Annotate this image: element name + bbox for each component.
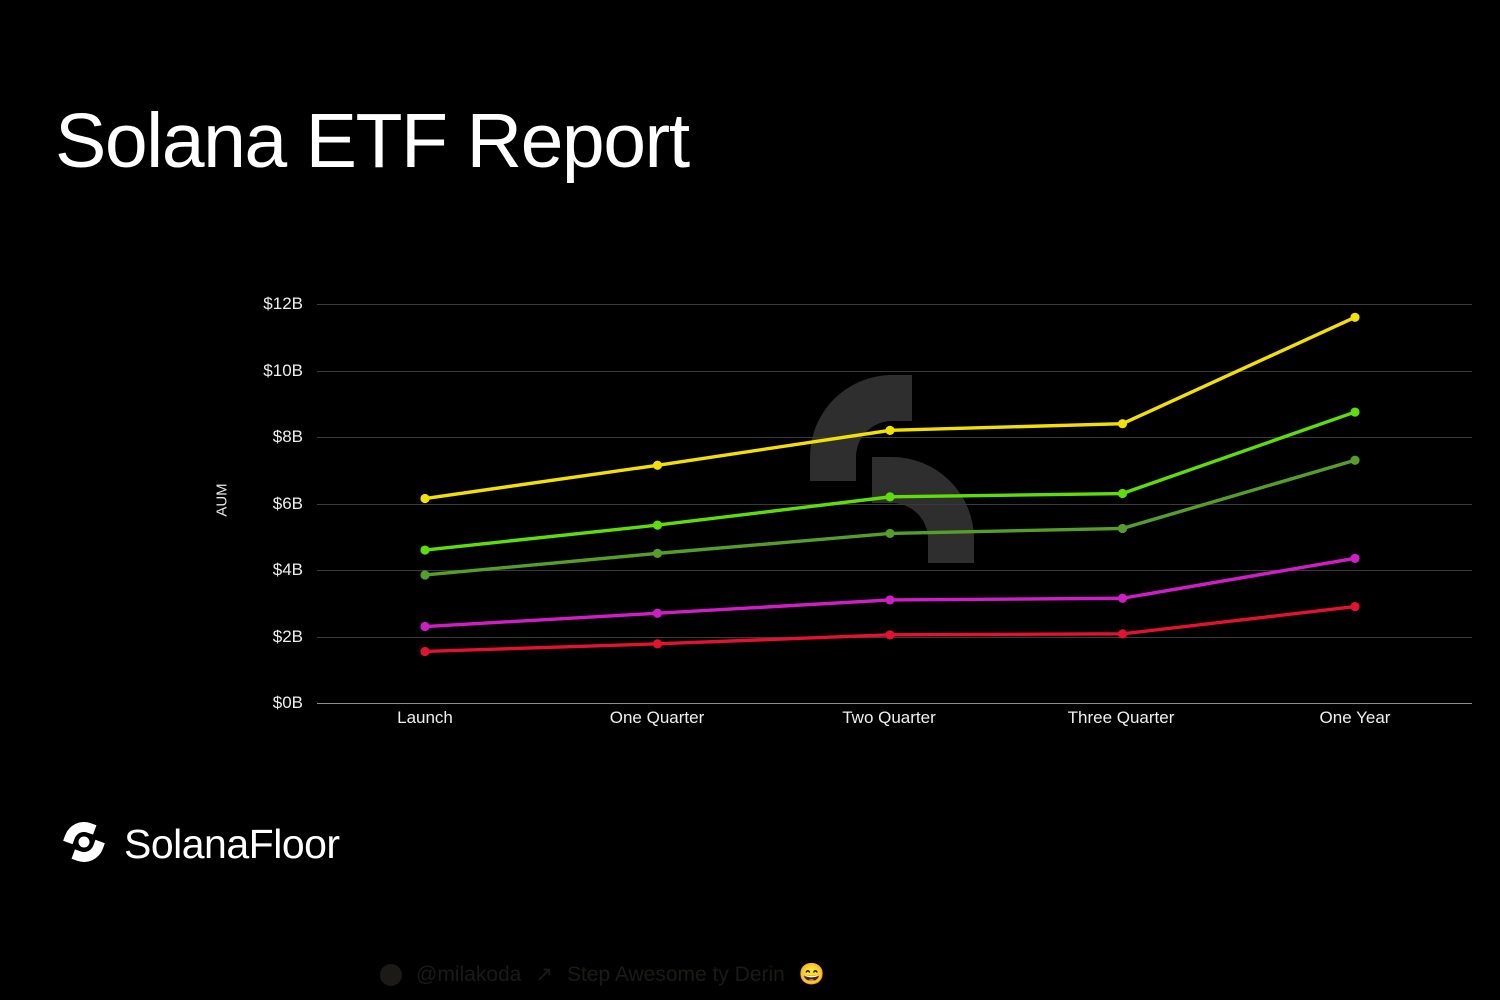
bottom-strip-content: @milakoda ↗ Step Awesome ty Derin 😄	[380, 962, 825, 987]
emoji-icon: 😄	[799, 963, 825, 987]
data-point	[653, 461, 662, 470]
series-line	[425, 317, 1355, 498]
bottom-strip-text: Step Awesome ty Derin	[567, 963, 785, 987]
bottom-strip-handle: @milakoda	[416, 963, 521, 987]
data-point	[1350, 554, 1359, 563]
solanafloor-pinwheel-icon	[60, 818, 108, 871]
data-point	[420, 494, 429, 503]
chart-series	[420, 456, 1359, 580]
data-point	[1118, 419, 1127, 428]
arrow-icon: ↗	[535, 962, 553, 987]
data-point	[885, 426, 894, 435]
series-line	[425, 607, 1355, 652]
chart-series	[420, 602, 1359, 656]
data-point	[885, 595, 894, 604]
data-point	[1350, 456, 1359, 465]
data-point	[1118, 524, 1127, 533]
data-point	[653, 521, 662, 530]
chart-series	[420, 554, 1359, 631]
data-point	[653, 549, 662, 558]
report-slide: Solana ETF Report $12B $10B $8B	[0, 0, 1500, 1000]
data-point	[1350, 602, 1359, 611]
data-point	[1118, 489, 1127, 498]
data-point	[885, 529, 894, 538]
series-line	[425, 558, 1355, 626]
data-point	[420, 647, 429, 656]
data-point	[885, 630, 894, 639]
data-point	[1350, 407, 1359, 416]
data-point	[653, 639, 662, 648]
bottom-cutoff-strip: @milakoda ↗ Step Awesome ty Derin 😄	[0, 958, 1500, 1000]
data-point	[1118, 594, 1127, 603]
data-point	[420, 622, 429, 631]
data-point	[1350, 313, 1359, 322]
data-point	[420, 570, 429, 579]
data-point	[1118, 629, 1127, 638]
chart-series	[420, 313, 1359, 503]
data-point	[420, 545, 429, 554]
brand-logo: SolanaFloor	[60, 818, 340, 871]
data-point	[653, 609, 662, 618]
data-point	[885, 492, 894, 501]
brand-name: SolanaFloor	[124, 821, 340, 868]
avatar	[380, 964, 402, 986]
